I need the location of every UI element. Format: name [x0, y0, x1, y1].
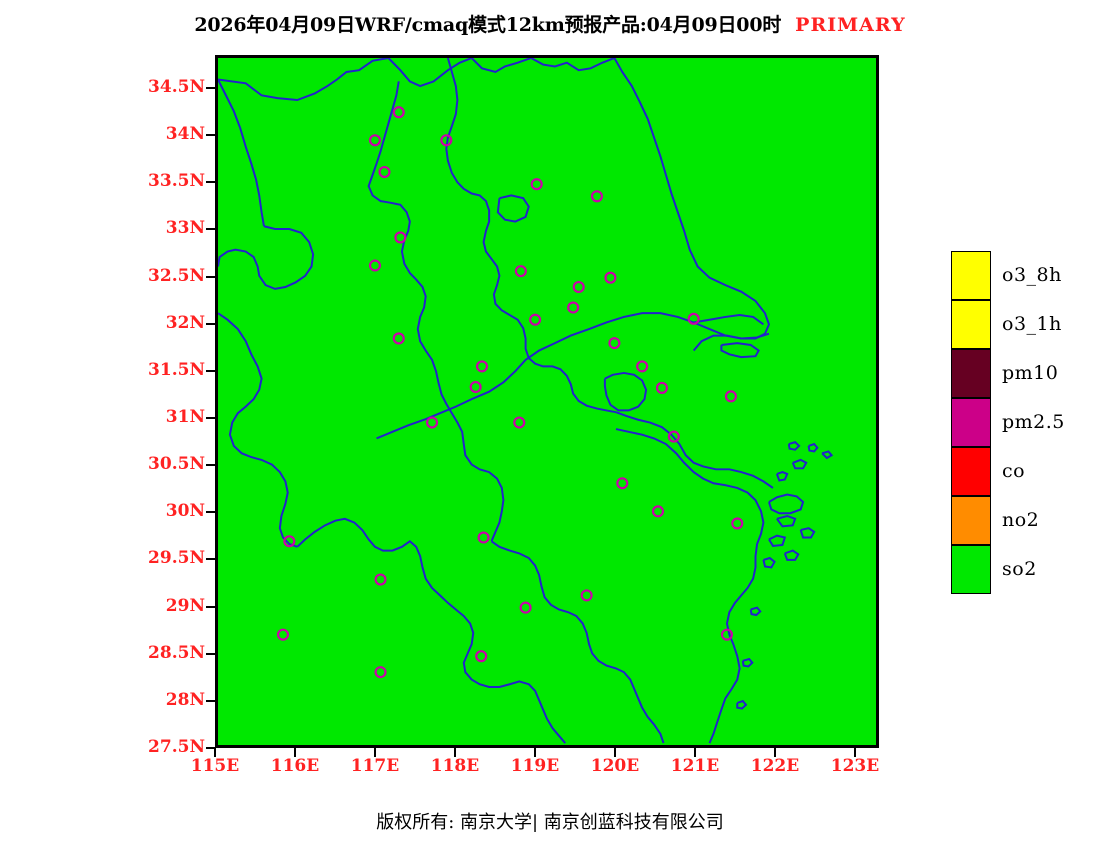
- boundary-line: [492, 541, 664, 743]
- y-axis-tick-mark: [206, 370, 215, 372]
- station-marker[interactable]: [582, 590, 592, 600]
- boundary-line: [822, 451, 832, 458]
- x-axis-tick-mark: [374, 748, 376, 757]
- legend-item-so2[interactable]: so2: [951, 545, 1091, 594]
- boundary-line: [777, 516, 795, 526]
- boundary-line: [218, 80, 264, 227]
- station-marker[interactable]: [732, 518, 742, 528]
- y-axis-tick-mark: [206, 417, 215, 419]
- station-marker[interactable]: [394, 107, 404, 117]
- legend-item-o31h[interactable]: o3_1h: [951, 300, 1091, 349]
- station-marker[interactable]: [471, 382, 481, 392]
- boundary-line: [218, 58, 388, 100]
- y-axis-tick-mark: [206, 181, 215, 183]
- legend-color-swatch: [951, 251, 991, 300]
- station-marker[interactable]: [476, 651, 486, 661]
- x-axis-tick-label: 121E: [660, 758, 730, 775]
- boundary-line: [751, 608, 761, 615]
- station-marker[interactable]: [530, 315, 540, 325]
- station-marker[interactable]: [568, 303, 578, 313]
- x-axis-tick-mark: [214, 748, 216, 757]
- y-axis-tick-mark: [206, 606, 215, 608]
- station-marker[interactable]: [521, 603, 531, 613]
- province-boundaries: [218, 58, 832, 743]
- station-marker[interactable]: [370, 261, 380, 271]
- y-axis-tick-mark: [206, 558, 215, 560]
- x-axis-tick-mark: [854, 748, 856, 757]
- boundary-line: [472, 58, 531, 72]
- boundary-line: [809, 444, 818, 451]
- x-axis-tick-mark: [534, 748, 536, 757]
- x-axis-tick-mark: [454, 748, 456, 757]
- boundary-line: [769, 494, 803, 513]
- station-marker[interactable]: [657, 383, 667, 393]
- station-marker[interactable]: [380, 167, 390, 177]
- boundary-line: [369, 81, 504, 541]
- boundary-line: [531, 58, 614, 70]
- legend-item-label: so2: [1002, 558, 1037, 580]
- legend-color-swatch: [951, 300, 991, 349]
- legend-item-pm25[interactable]: pm2.5: [951, 398, 1091, 447]
- station-marker[interactable]: [278, 630, 288, 640]
- station-marker[interactable]: [395, 232, 405, 242]
- x-axis-tick-label: 120E: [580, 758, 650, 775]
- station-marker[interactable]: [637, 361, 647, 371]
- legend-item-co[interactable]: co: [951, 447, 1091, 496]
- x-axis-tick-label: 116E: [260, 758, 330, 775]
- x-axis-tick-mark: [294, 748, 296, 757]
- legend-item-label: o3_1h: [1002, 313, 1062, 335]
- boundary-line: [694, 315, 764, 324]
- legend-color-swatch: [951, 349, 991, 398]
- x-axis-tick-label: 123E: [820, 758, 890, 775]
- legend-item-label: pm2.5: [1002, 411, 1065, 433]
- station-marker[interactable]: [592, 191, 602, 201]
- legend-color-swatch: [951, 496, 991, 545]
- legend-item-o38h[interactable]: o3_8h: [951, 251, 1091, 300]
- station-marker[interactable]: [609, 338, 619, 348]
- station-marker[interactable]: [427, 418, 437, 428]
- station-marker[interactable]: [376, 575, 386, 585]
- x-axis-tick-mark: [774, 748, 776, 757]
- station-marker[interactable]: [516, 266, 526, 276]
- boundary-line: [769, 536, 785, 546]
- station-marker[interactable]: [477, 361, 487, 371]
- y-axis-tick-mark: [206, 276, 215, 278]
- station-marker[interactable]: [605, 273, 615, 283]
- station-marker[interactable]: [394, 333, 404, 343]
- y-axis-tick-mark: [206, 511, 215, 513]
- boundary-line: [614, 58, 769, 351]
- station-marker[interactable]: [514, 418, 524, 428]
- station-marker[interactable]: [370, 135, 380, 145]
- y-axis-tick-mark: [206, 653, 215, 655]
- legend-item-label: pm10: [1002, 362, 1058, 384]
- boundary-line: [743, 659, 753, 666]
- x-axis-tick-label: 122E: [740, 758, 810, 775]
- map-canvas[interactable]: [218, 58, 876, 745]
- legend-color-swatch: [951, 447, 991, 496]
- y-axis-tick-mark: [206, 228, 215, 230]
- pollutant-legend[interactable]: o3_8ho3_1hpm10pm2.5cono2so2: [951, 251, 1091, 594]
- station-marker[interactable]: [726, 391, 736, 401]
- legend-item-pm10[interactable]: pm10: [951, 349, 1091, 398]
- station-marker[interactable]: [722, 630, 732, 640]
- station-marker[interactable]: [653, 506, 663, 516]
- station-marker[interactable]: [617, 478, 627, 488]
- boundary-line: [218, 226, 313, 289]
- forecast-map[interactable]: [215, 55, 879, 748]
- boundary-line: [297, 519, 565, 743]
- copyright-text: 版权所有: 南京大学| 南京创蓝科技有限公司: [376, 812, 724, 833]
- station-marker[interactable]: [574, 282, 584, 292]
- boundary-line: [737, 701, 746, 708]
- station-marker[interactable]: [479, 533, 489, 543]
- boundary-line: [785, 551, 798, 560]
- station-markers[interactable]: [278, 107, 742, 677]
- boundary-line: [616, 412, 773, 488]
- boundary-line: [721, 343, 758, 357]
- y-axis-tick-mark: [206, 700, 215, 702]
- footer: 版权所有: 南京大学| 南京创蓝科技有限公司: [0, 808, 1100, 834]
- legend-color-swatch: [951, 398, 991, 447]
- boundary-line: [801, 528, 814, 537]
- y-axis-tick-mark: [206, 464, 215, 466]
- x-axis-tick-label: 119E: [500, 758, 570, 775]
- legend-item-label: co: [1002, 460, 1025, 482]
- station-marker[interactable]: [532, 179, 542, 189]
- boundary-line: [763, 558, 774, 567]
- y-axis-tick-mark: [206, 323, 215, 325]
- boundary-line: [218, 313, 297, 547]
- boundary-line: [446, 58, 616, 412]
- legend-color-swatch: [951, 545, 991, 594]
- legend-item-no2[interactable]: no2: [951, 496, 1091, 545]
- boundary-line: [777, 472, 787, 480]
- boundary-line: [793, 460, 806, 468]
- boundary-line: [388, 58, 471, 86]
- y-axis-tick-mark: [206, 134, 215, 136]
- y-axis-tick-mark: [206, 87, 215, 89]
- x-axis-tick-label: 118E: [420, 758, 490, 775]
- boundary-line: [605, 373, 646, 410]
- boundary-line: [789, 442, 799, 450]
- legend-item-label: o3_8h: [1002, 264, 1062, 286]
- legend-item-label: no2: [1002, 509, 1039, 531]
- station-marker[interactable]: [376, 667, 386, 677]
- x-axis-tick-mark: [694, 748, 696, 757]
- x-axis-tick-label: 115E: [180, 758, 250, 775]
- boundary-line: [498, 195, 529, 221]
- x-axis-tick-label: 117E: [340, 758, 410, 775]
- x-axis-tick-mark: [614, 748, 616, 757]
